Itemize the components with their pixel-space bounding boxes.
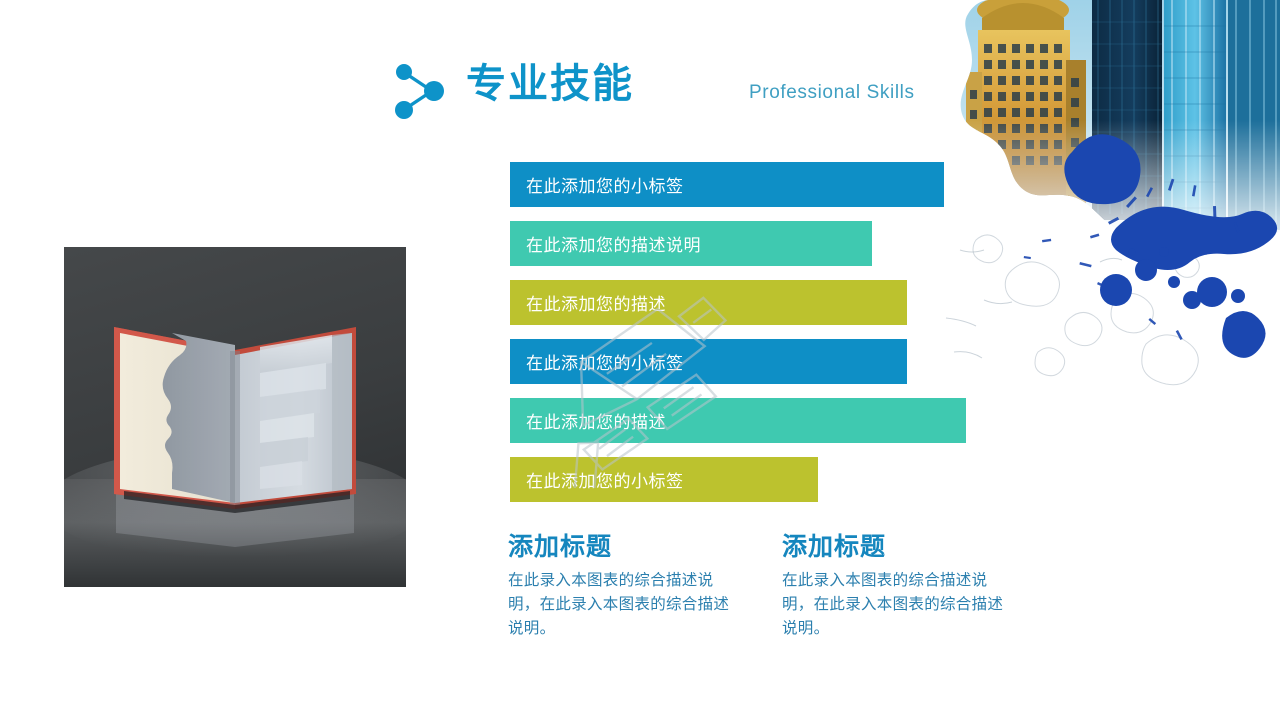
description-column: 添加标题 在此录入本图表的综合描述说明，在此录入本图表的综合描述说明。 <box>782 532 1018 641</box>
bar-row[interactable]: 在此添加您的描述 <box>510 280 907 325</box>
description-column: 添加标题 在此录入本图表的综合描述说明，在此录入本图表的综合描述说明。 <box>508 532 744 641</box>
page-title: 专业技能 <box>466 56 634 112</box>
bar-row[interactable]: 在此添加您的描述 <box>510 398 966 443</box>
slide-canvas: 专业技能 Professional Skills <box>0 0 1280 720</box>
share-nodes-icon <box>392 62 454 120</box>
description-columns: 添加标题 在此录入本图表的综合描述说明，在此录入本图表的综合描述说明。 添加标题… <box>508 532 1028 672</box>
bar-label: 在此添加您的小标签 <box>510 467 684 492</box>
skills-bar-chart: 在此添加您的小标签 在此添加您的描述说明 在此添加您的描述 在此添加您的小标签 … <box>510 162 990 502</box>
column-title: 添加标题 <box>782 532 1018 562</box>
bar-row[interactable]: 在此添加您的小标签 <box>510 457 818 502</box>
column-title: 添加标题 <box>508 532 744 562</box>
bar-row[interactable]: 在此添加您的小标签 <box>510 162 944 207</box>
bar-row[interactable]: 在此添加您的小标签 <box>510 339 907 384</box>
bar-row[interactable]: 在此添加您的描述说明 <box>510 221 872 266</box>
bar-label: 在此添加您的描述 <box>510 408 666 433</box>
bar-label: 在此添加您的小标签 <box>510 172 684 197</box>
bar-label: 在此添加您的描述说明 <box>510 231 701 256</box>
column-body: 在此录入本图表的综合描述说明，在此录入本图表的综合描述说明。 <box>782 569 1018 641</box>
bar-label: 在此添加您的小标签 <box>510 349 684 374</box>
bar-label: 在此添加您的描述 <box>510 290 666 315</box>
page-subtitle: Professional Skills <box>749 82 915 104</box>
column-body: 在此录入本图表的综合描述说明，在此录入本图表的综合描述说明。 <box>508 569 744 641</box>
open-book-photo <box>64 247 406 587</box>
slide-header: 专业技能 Professional Skills <box>392 56 992 126</box>
